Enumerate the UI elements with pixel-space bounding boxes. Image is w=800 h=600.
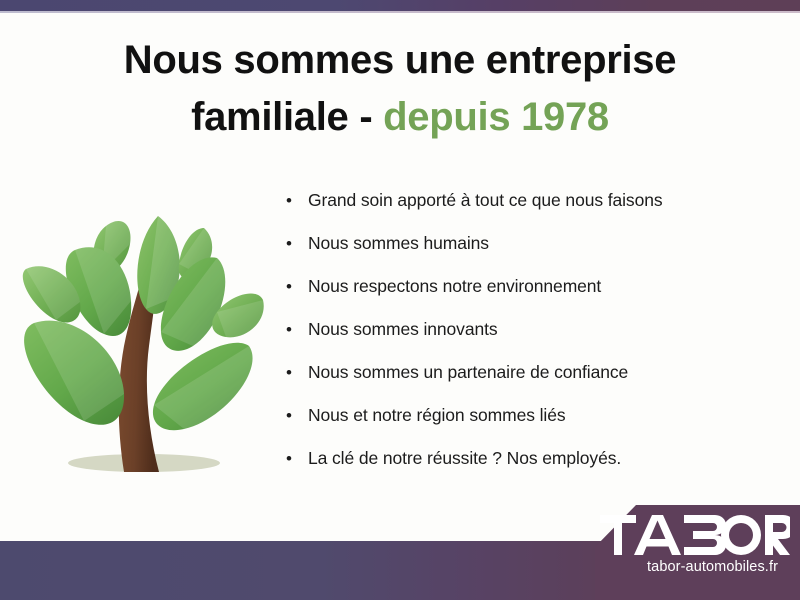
- list-item: • Nous sommes innovants: [286, 321, 786, 364]
- slide-canvas: Nous sommes une entreprise familiale - d…: [0, 0, 800, 600]
- list-item-label: Nous respectons notre environnement: [308, 278, 601, 296]
- tabor-wordmark-icon: [600, 515, 790, 555]
- bullet-marker-icon: •: [286, 364, 308, 381]
- value-list: • Grand soin apporté à tout ce que nous …: [286, 192, 786, 493]
- list-item: • La clé de notre réussite ? Nos employé…: [286, 450, 786, 493]
- brand-url[interactable]: tabor-automobiles.fr: [548, 559, 788, 575]
- list-item-label: Nous sommes humains: [308, 235, 489, 253]
- headline-familiale-text: familiale: [191, 95, 348, 139]
- list-item: • Grand soin apporté à tout ce que nous …: [286, 192, 786, 235]
- headline-line-1: Nous sommes une entreprise: [40, 32, 760, 89]
- list-item-label: Nous et notre région sommes liés: [308, 407, 565, 425]
- headline-line-1-text: Nous sommes une entreprise: [124, 38, 676, 82]
- list-item: • Nous et notre région sommes liés: [286, 407, 786, 450]
- list-item: • Nous respectons notre environnement: [286, 278, 786, 321]
- list-item-label: Nous sommes un partenaire de confiance: [308, 364, 628, 382]
- bullet-marker-icon: •: [286, 321, 308, 338]
- top-accent-underline: [0, 11, 800, 13]
- brand-logo: tabor-automobiles.fr: [548, 503, 800, 600]
- headline-line-2: familiale - depuis 1978: [40, 89, 760, 146]
- list-item-label: Nous sommes innovants: [308, 321, 498, 339]
- bullet-marker-icon: •: [286, 192, 308, 209]
- top-accent-bar: [0, 0, 800, 11]
- headline-since-year: depuis 1978: [383, 95, 609, 139]
- bullet-marker-icon: •: [286, 235, 308, 252]
- list-item-label: Grand soin apporté à tout ce que nous fa…: [308, 192, 663, 210]
- brand-logo-panel[interactable]: tabor-automobiles.fr: [548, 503, 800, 600]
- list-item: • Nous sommes humains: [286, 235, 786, 278]
- bullet-marker-icon: •: [286, 450, 308, 467]
- bullet-marker-icon: •: [286, 407, 308, 424]
- list-item-label: La clé de notre réussite ? Nos employés.: [308, 450, 621, 468]
- list-item: • Nous sommes un partenaire de confiance: [286, 364, 786, 407]
- tree-illustration: [18, 188, 264, 484]
- page-title: Nous sommes une entreprise familiale - d…: [40, 32, 760, 146]
- bullet-marker-icon: •: [286, 278, 308, 295]
- headline-dash: -: [359, 95, 372, 139]
